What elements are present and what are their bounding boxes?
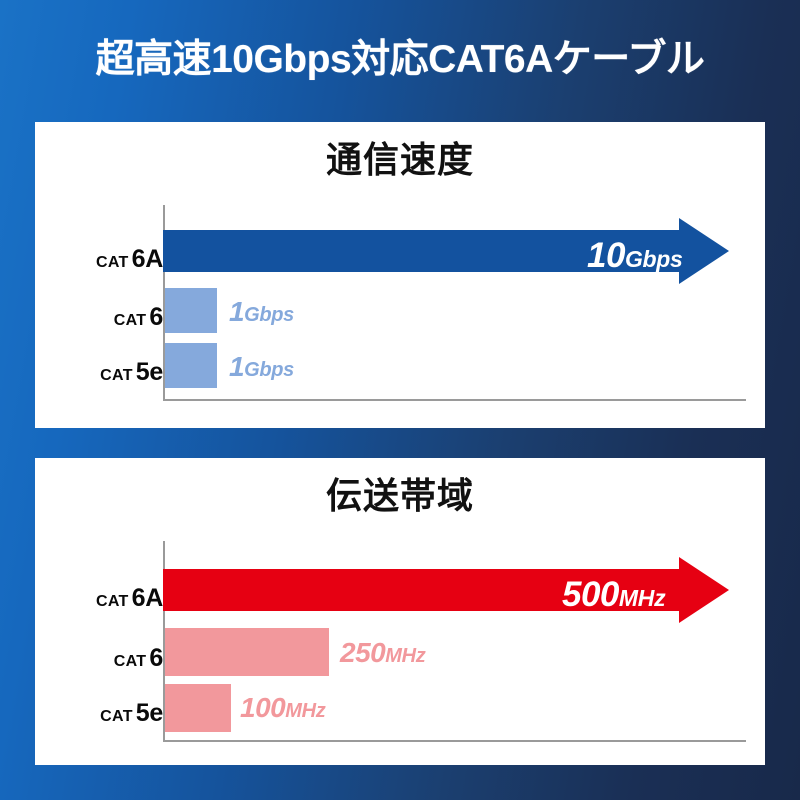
- value-unit: Gbps: [625, 246, 683, 272]
- value-unit: MHz: [285, 700, 325, 722]
- value-number: 10: [587, 236, 625, 275]
- category-prefix: CAT: [114, 312, 147, 329]
- value-label-cat6-speed: 1Gbps: [229, 298, 294, 326]
- value-number: 100: [240, 692, 285, 723]
- poster-canvas: 超高速10Gbps対応CAT6Aケーブル 通信速度 CAT6A 10Gbps C…: [0, 0, 800, 800]
- category-label-cat6-bandwidth: CAT6: [51, 646, 163, 671]
- value-label-cat6a-bandwidth: 500MHz: [562, 577, 665, 612]
- category-prefix: CAT: [114, 653, 147, 670]
- bar-cat6-bandwidth: [165, 628, 329, 676]
- category-suffix: 6: [149, 303, 163, 331]
- value-number: 1: [229, 296, 244, 327]
- value-unit: Gbps: [244, 304, 294, 326]
- value-label-cat6-bandwidth: 250MHz: [340, 639, 425, 667]
- value-number: 500: [562, 575, 619, 614]
- value-number: 1: [229, 351, 244, 382]
- category-suffix: 5e: [136, 358, 163, 386]
- value-label-cat5e-speed: 1Gbps: [229, 353, 294, 381]
- category-prefix: CAT: [96, 593, 129, 610]
- category-label-cat5e-speed: CAT5e: [51, 360, 163, 385]
- category-prefix: CAT: [100, 708, 133, 725]
- value-unit: Gbps: [244, 359, 294, 381]
- category-prefix: CAT: [100, 367, 133, 384]
- category-label-cat6-speed: CAT6: [51, 305, 163, 330]
- header-banner: 超高速10Gbps対応CAT6Aケーブル: [0, 0, 800, 118]
- bar-cat5e-speed: [165, 343, 217, 388]
- x-axis-line-bandwidth: [163, 740, 746, 742]
- chart-panel-speed: 通信速度 CAT6A 10Gbps CAT6 1Gbps: [35, 122, 765, 428]
- bar-cat5e-bandwidth: [165, 684, 231, 732]
- value-label-cat6a-speed: 10Gbps: [587, 238, 683, 273]
- category-label-cat5e-bandwidth: CAT5e: [51, 701, 163, 726]
- chart-area-speed: CAT6A 10Gbps CAT6 1Gbps CAT5e 1: [35, 122, 765, 428]
- chart-area-bandwidth: CAT6A 500MHz CAT6 250MHz CAT5e: [35, 458, 765, 765]
- value-label-cat5e-bandwidth: 100MHz: [240, 694, 325, 722]
- value-unit: MHz: [385, 645, 425, 667]
- category-suffix: 6A: [132, 584, 163, 612]
- bar-cat6-speed: [165, 288, 217, 333]
- category-suffix: 6: [149, 644, 163, 672]
- x-axis-line-speed: [163, 399, 746, 401]
- category-label-cat6a-speed: CAT6A: [51, 247, 163, 272]
- page-title: 超高速10Gbps対応CAT6Aケーブル: [96, 40, 705, 79]
- category-prefix: CAT: [96, 254, 129, 271]
- category-suffix: 6A: [132, 245, 163, 273]
- category-suffix: 5e: [136, 699, 163, 727]
- chart-panel-bandwidth: 伝送帯域 CAT6A 500MHz CAT6 250MHz: [35, 458, 765, 765]
- value-number: 250: [340, 637, 385, 668]
- category-label-cat6a-bandwidth: CAT6A: [51, 586, 163, 611]
- value-unit: MHz: [619, 585, 665, 611]
